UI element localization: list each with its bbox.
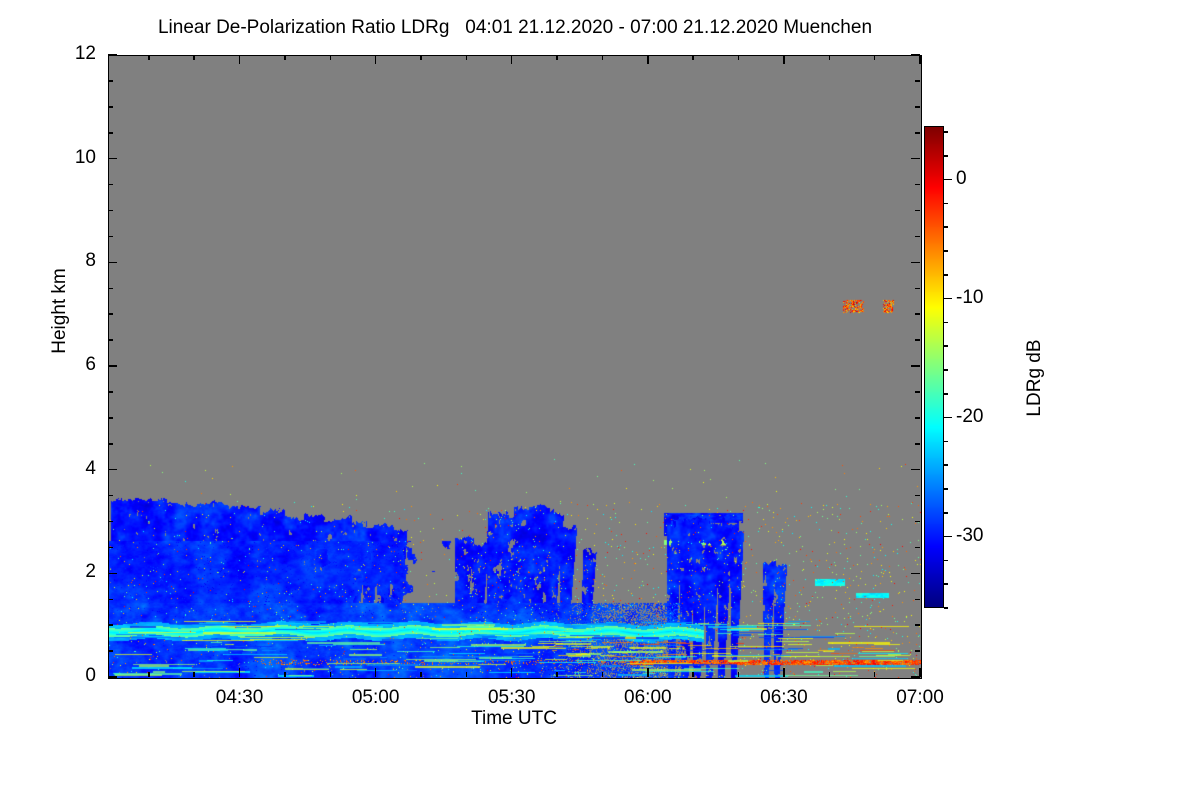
x-axis-minor-tick-top	[148, 55, 150, 60]
x-axis-tick-label: 07:00	[865, 687, 975, 709]
y-axis-minor-tick	[108, 132, 113, 134]
y-axis-minor-tick	[108, 80, 113, 82]
y-axis-tick-label: 2	[36, 561, 96, 583]
colorbar-minor-tick	[944, 322, 948, 324]
x-axis-minor-tick-top	[556, 55, 558, 60]
x-axis-major-tick-top	[647, 55, 649, 64]
x-axis-minor-tick-top	[829, 55, 831, 60]
x-axis-minor-tick-top	[284, 55, 286, 60]
y-axis-minor-tick-right	[915, 210, 920, 212]
colorbar-tick-label: -30	[956, 525, 983, 547]
colorbar-minor-tick	[944, 583, 948, 585]
x-axis-minor-tick	[556, 672, 558, 677]
y-axis-minor-tick-right	[915, 624, 920, 626]
x-axis-minor-tick	[193, 672, 195, 677]
x-axis-minor-tick	[148, 672, 150, 677]
colorbar-major-tick	[944, 536, 952, 538]
heatmap-plot-area[interactable]	[108, 55, 922, 679]
y-axis-major-tick	[108, 158, 117, 160]
y-axis-minor-tick	[108, 391, 113, 393]
x-axis-tick-label: 05:00	[321, 687, 431, 709]
x-axis-minor-tick	[466, 672, 468, 677]
colorbar-minor-tick	[944, 512, 948, 514]
x-axis-minor-tick	[284, 672, 286, 677]
y-axis-minor-tick-right	[915, 339, 920, 341]
y-axis-major-tick-right	[911, 262, 920, 264]
y-axis-minor-tick-right	[915, 132, 920, 134]
y-axis-minor-tick	[108, 106, 113, 108]
x-axis-major-tick-top	[511, 55, 513, 64]
colorbar-minor-tick	[944, 464, 948, 466]
x-axis-minor-tick-top	[602, 55, 604, 60]
x-axis-major-tick	[783, 668, 785, 677]
y-axis-minor-tick	[108, 417, 113, 419]
y-axis-minor-tick-right	[915, 521, 920, 523]
y-axis-minor-tick	[108, 288, 113, 290]
colorbar-minor-tick	[944, 560, 948, 562]
x-axis-minor-tick-top	[193, 55, 195, 60]
y-axis-minor-tick	[108, 547, 113, 549]
y-axis-minor-tick	[108, 599, 113, 601]
x-axis-major-tick-top	[919, 55, 921, 64]
colorbar[interactable]	[924, 126, 944, 608]
x-axis-tick-label: 05:30	[457, 687, 567, 709]
y-axis-minor-tick	[108, 184, 113, 186]
y-axis-tick-label: 10	[36, 147, 96, 169]
y-axis-minor-tick	[108, 210, 113, 212]
colorbar-minor-tick	[944, 369, 948, 371]
y-axis-minor-tick	[108, 313, 113, 315]
y-axis-major-tick-right	[911, 158, 920, 160]
y-axis-major-tick	[108, 54, 117, 56]
colorbar-tick-label: -20	[956, 406, 983, 428]
x-axis-tick-label: 06:00	[593, 687, 703, 709]
y-axis-minor-tick-right	[915, 391, 920, 393]
colorbar-major-tick	[944, 298, 952, 300]
colorbar-minor-tick	[944, 441, 948, 443]
heatmap-data-canvas	[109, 56, 921, 678]
x-axis-minor-tick	[420, 672, 422, 677]
x-axis-minor-tick	[829, 672, 831, 677]
colorbar-tick-label: 0	[956, 168, 967, 190]
x-axis-major-tick	[647, 668, 649, 677]
colorbar-minor-tick	[944, 393, 948, 395]
y-axis-major-tick	[108, 573, 117, 575]
y-axis-minor-tick	[108, 443, 113, 445]
x-axis-minor-tick-top	[420, 55, 422, 60]
x-axis-major-tick	[375, 668, 377, 677]
colorbar-major-tick	[944, 417, 952, 419]
y-axis-minor-tick	[108, 236, 113, 238]
colorbar-minor-tick	[944, 345, 948, 347]
x-axis-minor-tick	[602, 672, 604, 677]
y-axis-tick-label: 4	[36, 458, 96, 480]
y-axis-title: Height km	[49, 241, 71, 381]
x-axis-minor-tick-top	[330, 55, 332, 60]
x-axis-minor-tick-top	[874, 55, 876, 60]
y-axis-major-tick	[108, 365, 117, 367]
y-axis-minor-tick-right	[915, 313, 920, 315]
y-axis-minor-tick-right	[915, 650, 920, 652]
colorbar-minor-tick	[944, 226, 948, 228]
x-axis-tick-label: 04:30	[185, 687, 295, 709]
x-axis-major-tick-top	[239, 55, 241, 64]
x-axis-minor-tick	[692, 672, 694, 677]
y-axis-minor-tick-right	[915, 80, 920, 82]
y-axis-minor-tick	[108, 650, 113, 652]
x-axis-minor-tick	[738, 672, 740, 677]
x-axis-major-tick-top	[375, 55, 377, 64]
x-axis-major-tick	[919, 668, 921, 677]
y-axis-major-tick-right	[911, 469, 920, 471]
y-axis-minor-tick	[108, 624, 113, 626]
x-axis-title: Time UTC	[108, 708, 920, 730]
y-axis-tick-label: 0	[36, 665, 96, 687]
y-axis-minor-tick-right	[915, 106, 920, 108]
x-axis-tick-label: 06:30	[729, 687, 839, 709]
y-axis-major-tick	[108, 262, 117, 264]
colorbar-minor-tick	[944, 203, 948, 205]
colorbar-minor-tick	[944, 131, 948, 133]
y-axis-tick-label: 12	[36, 43, 96, 65]
colorbar-major-tick	[944, 179, 952, 181]
colorbar-minor-tick	[944, 488, 948, 490]
colorbar-gradient	[924, 126, 944, 608]
x-axis-minor-tick-top	[692, 55, 694, 60]
y-axis-major-tick	[108, 469, 117, 471]
y-axis-minor-tick-right	[915, 184, 920, 186]
y-axis-minor-tick-right	[915, 288, 920, 290]
y-axis-major-tick	[108, 676, 117, 678]
x-axis-minor-tick-top	[738, 55, 740, 60]
y-axis-major-tick-right	[911, 573, 920, 575]
x-axis-major-tick-top	[783, 55, 785, 64]
page-title: Linear De-Polarization Ratio LDRg 04:01 …	[0, 17, 1030, 39]
x-axis-major-tick	[511, 668, 513, 677]
colorbar-minor-tick	[944, 607, 948, 609]
colorbar-minor-tick	[944, 155, 948, 157]
y-axis-minor-tick-right	[915, 443, 920, 445]
y-axis-minor-tick-right	[915, 547, 920, 549]
x-axis-minor-tick-top	[466, 55, 468, 60]
colorbar-minor-tick	[944, 274, 948, 276]
x-axis-major-tick	[239, 668, 241, 677]
y-axis-minor-tick	[108, 339, 113, 341]
y-axis-minor-tick-right	[915, 236, 920, 238]
y-axis-minor-tick-right	[915, 599, 920, 601]
colorbar-tick-label: -10	[956, 287, 983, 309]
x-axis-minor-tick	[874, 672, 876, 677]
colorbar-title: LDRg dB	[1024, 278, 1046, 478]
x-axis-minor-tick	[330, 672, 332, 677]
y-axis-minor-tick	[108, 495, 113, 497]
y-axis-minor-tick-right	[915, 495, 920, 497]
colorbar-minor-tick	[944, 250, 948, 252]
y-axis-minor-tick-right	[915, 417, 920, 419]
y-axis-minor-tick	[108, 521, 113, 523]
y-axis-major-tick-right	[911, 365, 920, 367]
figure-canvas: Linear De-Polarization Ratio LDRg 04:01 …	[0, 0, 1200, 800]
